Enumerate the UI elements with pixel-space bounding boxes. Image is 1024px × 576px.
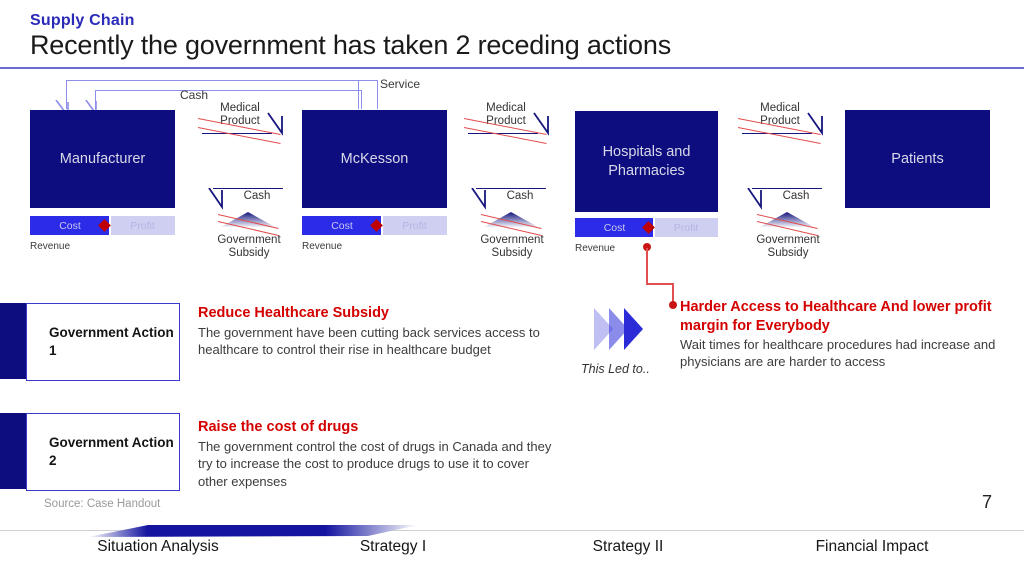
action-1-body: The government have been cutting back se… xyxy=(198,324,560,359)
active-section-banner xyxy=(88,524,418,537)
nav-item-strategy-1[interactable]: Strategy I xyxy=(313,538,473,568)
flow-node-label: Manufacturer xyxy=(60,150,145,168)
nav-label: Strategy II xyxy=(593,538,664,555)
header-divider xyxy=(0,67,1024,69)
action-2-strip xyxy=(0,413,28,489)
nav-item-strategy-2[interactable]: Strategy II xyxy=(548,538,708,568)
led-to-label: This Led to.. xyxy=(581,362,650,376)
subsidy-label-2: Government Subsidy xyxy=(467,234,557,260)
cost-profit-bar-mckesson: Cost Profit xyxy=(302,216,447,235)
action-2-box[interactable]: Government Action 2 xyxy=(26,413,180,491)
connector-dot-end xyxy=(669,301,677,309)
profit-segment: Profit xyxy=(654,218,718,237)
connector-segment-horizontal xyxy=(646,283,674,285)
action-1-strip xyxy=(0,303,28,379)
action-1-title: Reduce Healthcare Subsidy xyxy=(198,305,389,321)
connector-group-1: Medical Product xyxy=(200,100,280,140)
action-2-box-label: Government Action 2 xyxy=(27,434,179,470)
profit-segment: Profit xyxy=(382,216,447,235)
subsidy-glyph-2 xyxy=(484,212,538,227)
flow-node-label: Patients xyxy=(891,150,943,168)
bracket-service-rail xyxy=(358,80,359,109)
connector-cash-label: Cash xyxy=(217,190,297,203)
cost-profit-bar-manufacturer: Cost Profit xyxy=(30,216,175,235)
action-2-title: Raise the cost of drugs xyxy=(198,419,358,435)
subsidy-label-1: Government Subsidy xyxy=(204,234,294,260)
nav-item-situation-analysis[interactable]: Situation Analysis xyxy=(78,538,238,568)
connector-cash-label: Cash xyxy=(480,190,560,203)
connector-group-2: Medical Product xyxy=(466,100,546,140)
flow-node-mckesson[interactable]: McKesson xyxy=(302,110,447,208)
subsidy-label-3: Government Subsidy xyxy=(743,234,833,260)
connector-cash-2: Cash xyxy=(468,186,548,206)
bracket-service-label: Service xyxy=(380,77,420,91)
flow-node-hospitals[interactable]: Hospitals and Pharmacies xyxy=(575,111,718,212)
action-1-box-label: Government Action 1 xyxy=(27,324,179,360)
chevron-icon-3 xyxy=(624,308,643,350)
flow-node-manufacturer[interactable]: Manufacturer xyxy=(30,110,175,208)
page-number: 7 xyxy=(982,492,992,513)
outcome-title: Harder Access to Healthcare And lower pr… xyxy=(680,298,1000,336)
profit-segment: Profit xyxy=(110,216,175,235)
flow-node-label: Hospitals and Pharmacies xyxy=(575,143,718,179)
connector-segment-vertical xyxy=(646,248,648,284)
nav-label: Strategy I xyxy=(360,538,426,555)
revenue-label-manufacturer: Revenue xyxy=(30,241,70,252)
nav-item-financial-impact[interactable]: Financial Impact xyxy=(782,538,962,568)
slide-eyebrow: Supply Chain xyxy=(30,12,135,30)
action-1-box[interactable]: Government Action 1 xyxy=(26,303,180,381)
slide-title: Recently the government has taken 2 rece… xyxy=(30,30,671,61)
subsidy-glyph-3 xyxy=(760,212,814,227)
connector-group-3: Medical Product xyxy=(740,100,820,140)
slide-canvas: Supply Chain Recently the government has… xyxy=(0,0,1024,576)
outcome-body: Wait times for healthcare procedures had… xyxy=(680,336,1000,371)
subsidy-glyph-1 xyxy=(221,212,275,227)
revenue-label-mckesson: Revenue xyxy=(302,241,342,252)
connector-cash-1: Cash xyxy=(205,186,285,206)
connector-cash-label: Cash xyxy=(756,190,836,203)
revenue-label-hospitals: Revenue xyxy=(575,243,615,254)
cost-profit-bar-hospitals: Cost Profit xyxy=(575,218,718,237)
nav-label: Situation Analysis xyxy=(97,538,219,555)
connector-cash-3: Cash xyxy=(744,186,824,206)
flow-node-label: McKesson xyxy=(341,150,409,168)
nav-label: Financial Impact xyxy=(816,538,929,555)
source-note: Source: Case Handout xyxy=(44,498,160,510)
flow-node-patients[interactable]: Patients xyxy=(845,110,990,208)
action-2-body: The government control the cost of drugs… xyxy=(198,438,558,490)
